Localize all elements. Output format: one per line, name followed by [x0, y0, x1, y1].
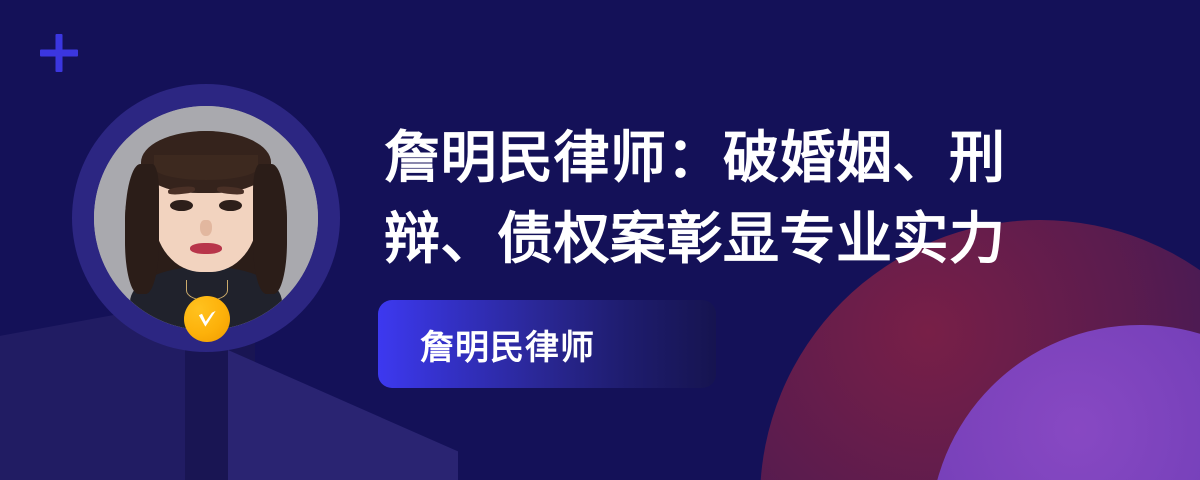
verified-check-icon[interactable]	[184, 296, 230, 342]
page-title-line-1: 詹明民律师：破婚姻、刑	[384, 118, 1084, 199]
profile-banner: 詹明民律师：破婚姻、刑 辩、债权案彰显专业实力 詹明民律师	[0, 0, 1200, 480]
plus-icon	[40, 34, 78, 72]
author-name-tag[interactable]: 詹明民律师	[378, 300, 716, 388]
page-title: 詹明民律师：破婚姻、刑 辩、债权案彰显专业实力	[384, 118, 1084, 279]
author-name-label: 詹明民律师	[378, 320, 595, 369]
page-title-line-2: 辩、债权案彰显专业实力	[384, 199, 1084, 280]
